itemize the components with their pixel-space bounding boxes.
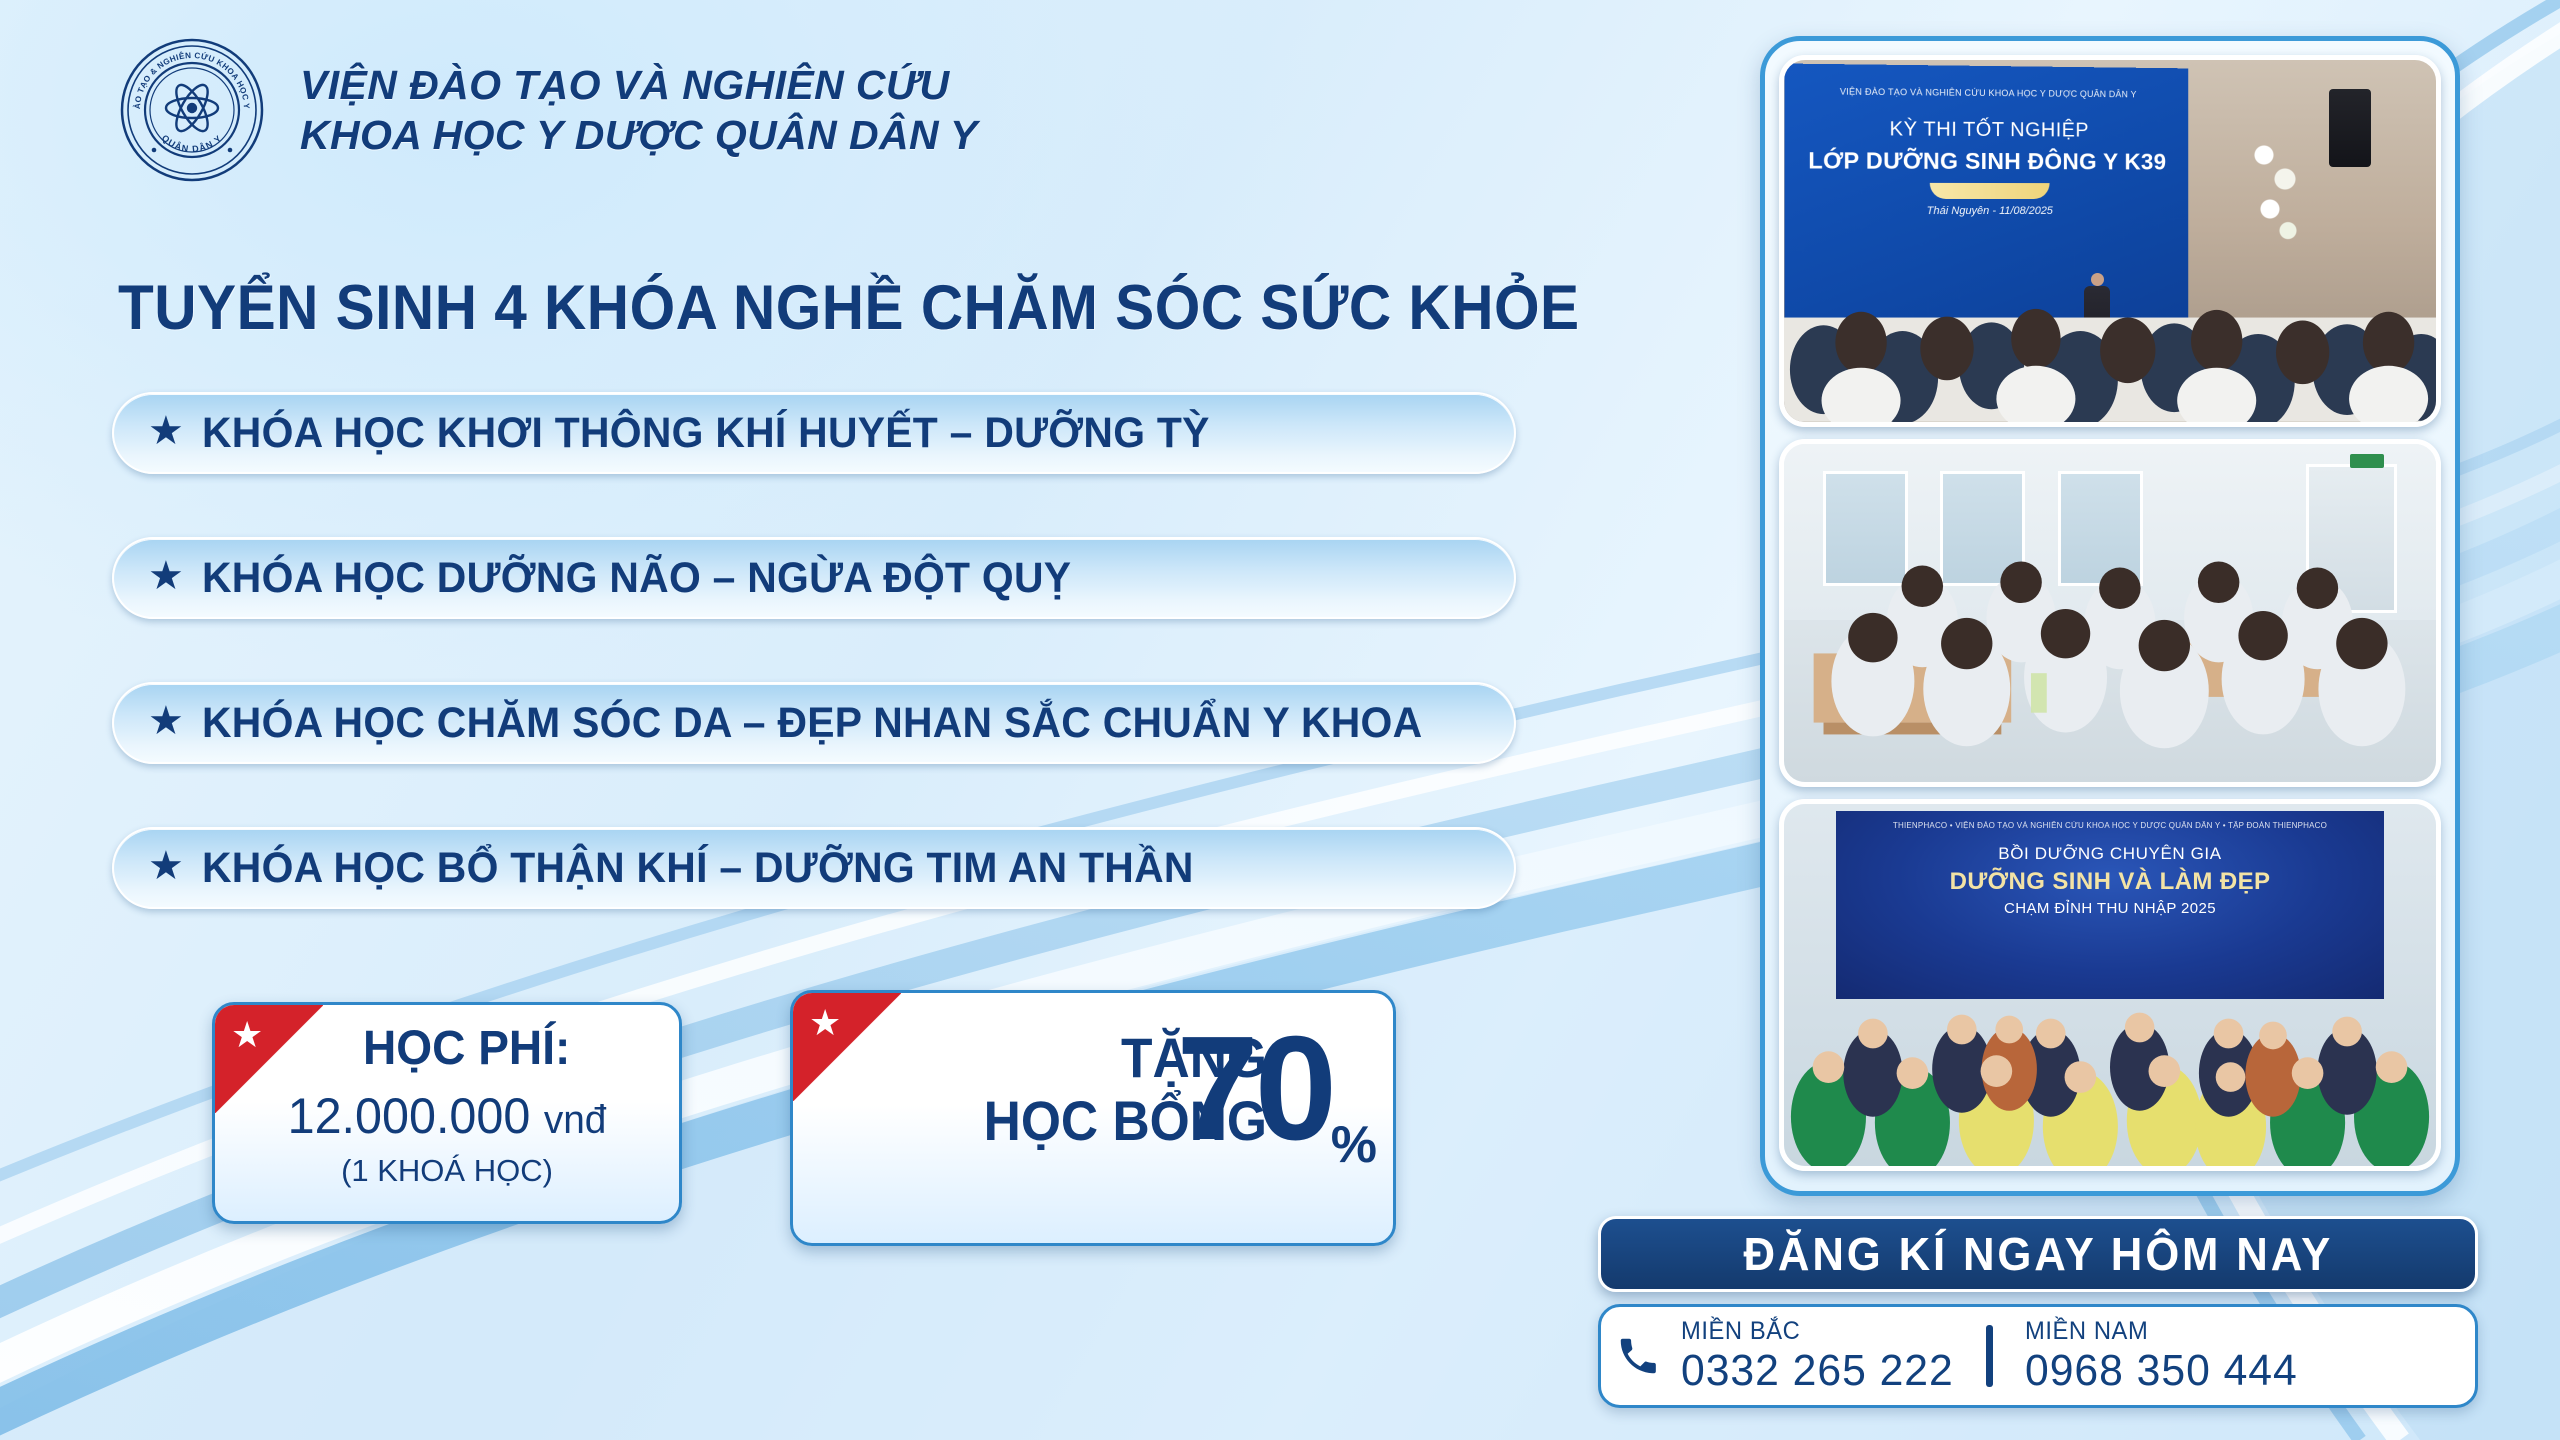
star-icon: ★ bbox=[809, 1005, 841, 1041]
course-label: KHÓA HỌC DƯỠNG NÃO – NGỪA ĐỘT QUỴ bbox=[202, 554, 1071, 603]
screen-logo-text: VIỆN ĐÀO TẠO VÀ NGHIÊN CỨU KHOA HỌC Y DƯ… bbox=[1785, 86, 2189, 101]
banner-line-1: BỒI DƯỠNG CHUYÊN GIA bbox=[1836, 844, 2384, 864]
photo-graduation-ceremony: VIỆN ĐÀO TẠO VÀ NGHIÊN CỨU KHOA HỌC Y DƯ… bbox=[1779, 55, 2441, 427]
group-of-people bbox=[1784, 978, 2436, 1166]
brand-header: VIỆN ĐÀO TẠO & NGHIÊN CỨU KHOA HỌC Y DƯỢ… bbox=[120, 38, 978, 182]
tuition-amount: 12.000.000 bbox=[288, 1088, 531, 1144]
scholarship-unit: % bbox=[1331, 1115, 1377, 1175]
scholarship-value: 70 bbox=[1176, 1015, 1333, 1163]
course-label: KHÓA HỌC KHƠI THÔNG KHÍ HUYẾT – DƯỠNG TỲ bbox=[202, 409, 1210, 458]
scholarship-card: ★ TẶNG HỌC BỔNG 70 % bbox=[790, 990, 1396, 1246]
contact-south-region: MIỀN NAM bbox=[2025, 1317, 2292, 1346]
tuition-amount-row: 12.000.000 vnđ bbox=[222, 1087, 672, 1145]
contact-north-region: MIỀN BẮC bbox=[1681, 1317, 1948, 1346]
institute-seal-logo: VIỆN ĐÀO TẠO & NGHIÊN CỨU KHOA HỌC Y DƯỢ… bbox=[120, 38, 264, 182]
org-line-1: VIỆN ĐÀO TẠO VÀ NGHIÊN CỨU bbox=[300, 60, 978, 110]
ceiling-speaker-icon bbox=[2329, 89, 2371, 167]
contact-north[interactable]: MIỀN BẮC 0332 265 222 bbox=[1675, 1317, 1968, 1396]
screen-line-1: KỲ THI TỐT NGHIỆP bbox=[1785, 118, 2189, 144]
screen-line-2: LỚP DƯỠNG SINH ĐÔNG Y K39 bbox=[1785, 147, 2189, 175]
tuition-label: HỌC PHÍ: bbox=[363, 1021, 570, 1076]
register-cta-button[interactable]: ĐĂNG KÍ NGAY HÔM NAY bbox=[1598, 1216, 2478, 1292]
tuition-currency: vnđ bbox=[544, 1098, 607, 1142]
course-item-2[interactable]: ★ KHÓA HỌC DƯỠNG NÃO – NGỪA ĐỘT QUỴ bbox=[112, 537, 1516, 619]
banner-line-2: DƯỠNG SINH VÀ LÀM ĐẸP bbox=[1836, 868, 2384, 896]
course-item-3[interactable]: ★ KHÓA HỌC CHĂM SÓC DA – ĐẸP NHAN SẮC CH… bbox=[112, 682, 1516, 764]
contact-south[interactable]: MIỀN NAM 0968 350 444 bbox=[2019, 1317, 2312, 1396]
contact-divider bbox=[1986, 1325, 1993, 1387]
contact-south-phone: 0968 350 444 bbox=[2025, 1346, 2298, 1396]
star-icon: ★ bbox=[148, 556, 184, 596]
students-seated bbox=[1784, 444, 2436, 780]
page-title: TUYỂN SINH 4 KHÓA NGHỀ CHĂM SÓC SỨC KHỎE bbox=[118, 272, 1580, 344]
banner-line-3: CHẠM ĐỈNH THU NHẬP 2025 bbox=[1836, 900, 2384, 917]
seminar-banner: THIENPHACO • VIỆN ĐÀO TẠO VÀ NGHIÊN CỨU … bbox=[1836, 811, 2384, 999]
photo-classroom-students bbox=[1779, 439, 2441, 787]
register-cta-label: ĐĂNG KÍ NGAY HÔM NAY bbox=[1743, 1227, 2333, 1281]
star-icon: ★ bbox=[148, 846, 184, 886]
star-icon: ★ bbox=[148, 701, 184, 741]
photo-group-seminar: THIENPHACO • VIỆN ĐÀO TẠO VÀ NGHIÊN CỨU … bbox=[1779, 799, 2441, 1171]
flower-arrangement bbox=[2246, 125, 2306, 245]
star-icon: ★ bbox=[231, 1017, 263, 1053]
tuition-card: ★ HỌC PHÍ: 12.000.000 vnđ (1 KHOÁ HỌC) bbox=[212, 1002, 682, 1224]
banner-logos-text: THIENPHACO • VIỆN ĐÀO TẠO VÀ NGHIÊN CỨU … bbox=[1836, 821, 2384, 831]
course-label: KHÓA HỌC CHĂM SÓC DA – ĐẸP NHAN SẮC CHUẨ… bbox=[202, 699, 1422, 748]
audience-seats bbox=[1784, 277, 2436, 422]
contact-bar: MIỀN BẮC 0332 265 222 MIỀN NAM 0968 350 … bbox=[1598, 1304, 2478, 1408]
screen-swoosh-decoration bbox=[1930, 183, 2050, 199]
organization-name: VIỆN ĐÀO TẠO VÀ NGHIÊN CỨU KHOA HỌC Y DƯ… bbox=[300, 60, 978, 160]
photo-gallery: VIỆN ĐÀO TẠO VÀ NGHIÊN CỨU KHOA HỌC Y DƯ… bbox=[1760, 36, 2460, 1196]
course-item-1[interactable]: ★ KHÓA HỌC KHƠI THÔNG KHÍ HUYẾT – DƯỠNG … bbox=[112, 392, 1516, 474]
org-line-2: KHOA HỌC Y DƯỢC QUÂN DÂN Y bbox=[300, 110, 978, 160]
tuition-note: (1 KHOÁ HỌC) bbox=[215, 1153, 679, 1189]
star-icon: ★ bbox=[148, 411, 184, 451]
contact-north-phone: 0332 265 222 bbox=[1681, 1346, 1954, 1396]
course-label: KHÓA HỌC BỔ THẬN KHÍ – DƯỠNG TIM AN THẦN bbox=[202, 844, 1194, 893]
phone-icon bbox=[1601, 1333, 1675, 1379]
course-item-4[interactable]: ★ KHÓA HỌC BỔ THẬN KHÍ – DƯỠNG TIM AN TH… bbox=[112, 827, 1516, 909]
red-corner-ribbon: ★ bbox=[793, 993, 901, 1101]
screen-date: Thái Nguyên - 11/08/2025 bbox=[1785, 205, 2189, 217]
poster-canvas: VIỆN ĐÀO TẠO & NGHIÊN CỨU KHOA HỌC Y DƯỢ… bbox=[0, 0, 2560, 1440]
